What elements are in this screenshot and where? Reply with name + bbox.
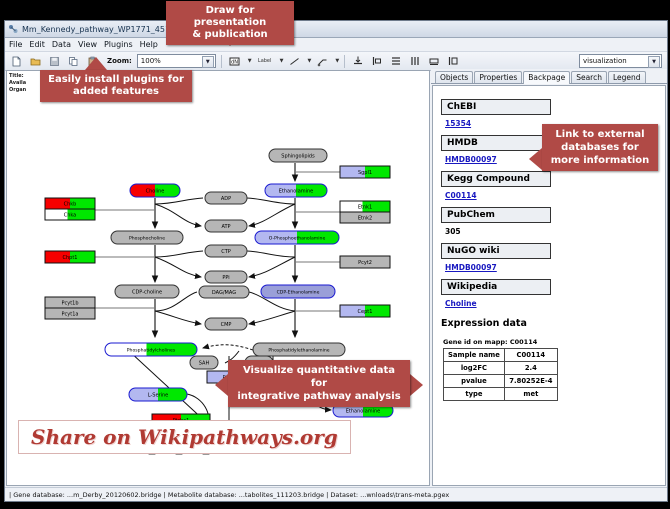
node-label: Pcyt2 [358,260,372,266]
callout-visualize-line2: integrative pathway analysis [237,391,400,402]
node-label: PPi [222,275,229,281]
expression-row: Sample nameC00114 [444,349,558,362]
node-label: ADP [221,196,231,202]
expression-row: typemet [444,388,558,401]
tab-search[interactable]: Search [571,71,607,83]
interaction-icon[interactable] [314,53,330,69]
callout-plugins-line2: added features [73,86,159,97]
align-top-icon[interactable] [350,53,366,69]
db-header-kegg-compound: Kegg Compound [441,171,551,187]
new-file-icon[interactable] [8,53,24,69]
metabolite-node[interactable]: Phosphatidylcholines [105,343,197,356]
chevron-down-icon[interactable]: ▼ [308,58,312,64]
expression-row-value: 7.80252E-4 [504,375,557,388]
expression-row-value: met [504,388,557,401]
metabolite-node[interactable]: CMP [205,318,247,330]
gene-id-label: Gene id on mapp: C00114 [443,338,657,346]
node-label: Ethanolamine [279,189,314,195]
node-label: Pcyt1b [61,301,78,307]
node-label: CDP-choline [132,290,162,296]
distribute-horizontal-icon[interactable] [407,53,423,69]
db-header-pubchem: PubChem [441,207,551,223]
node-label: O-Phosphoethanolamine [269,236,326,242]
tab-backpage[interactable]: Backpage [523,71,570,84]
node-label: CDP-Ethanolamine [277,290,320,296]
share-banner: Share on Wikipathways.org [18,420,351,454]
callout-visualize-line1: Visualize quantitative data for [243,365,395,389]
node-label: Chkb [64,202,77,208]
copy-icon[interactable] [65,53,81,69]
node-label: Choline [146,189,165,195]
metabolite-node[interactable]: Choline [130,184,180,197]
callout-link-line3: more information [551,155,650,166]
chevron-down-icon[interactable]: ▼ [280,58,284,64]
node-label: Phosphocholine [129,236,165,242]
expression-row-label: type [444,388,505,401]
metabolite-node[interactable]: Ethanolamine [265,184,327,197]
node-label: Pcyt1a [62,312,79,318]
expression-row-value: C00114 [504,349,557,362]
open-folder-icon[interactable] [27,53,43,69]
zoom-label: Zoom: [107,57,132,65]
visualization-combo[interactable]: visualization ▼ [579,54,662,68]
node-label: DAG/MAG [212,290,236,296]
menu-view[interactable]: View [78,40,97,49]
callout-link-arrow-icon [529,148,542,170]
node-label: Ethanolamine [346,409,381,415]
line-icon[interactable] [287,53,303,69]
callout-draw-line2: & publication [192,29,267,40]
node-label: Sgpl1 [358,170,372,176]
node-label: Chka [64,213,77,219]
common-width-icon[interactable] [426,53,442,69]
metabolite-node[interactable]: O-Phosphoethanolamine [255,231,339,244]
toolbar-separator [221,55,222,68]
db-header-wikipedia: Wikipedia [441,279,551,295]
expression-row: log2FC2.4 [444,362,558,375]
db-header-nugo-wiki: NuGO wiki [441,243,551,259]
align-left-icon[interactable] [369,53,385,69]
status-bar: | Gene database: ...m_Derby_20120602.bri… [5,487,667,501]
datanode-icon[interactable]: dN [227,53,243,69]
svg-text:dN: dN [231,59,238,65]
callout-link-line2: databases for [561,142,639,153]
title-bar: Mm_Kennedy_pathway_WP1771_45176.gpml [5,21,667,38]
callout-plugins-arrow-icon [85,57,107,70]
pathway-cofactor-edges [155,198,295,324]
metabolite-node[interactable]: CDP-Ethanolamine [261,285,335,298]
pathvisio-app-icon [8,24,18,34]
db-header-chebi: ChEBI [441,99,551,115]
node-label: L-Serine [148,393,168,399]
expression-row-label: Sample name [444,349,505,362]
callout-plugins: Easily install plugins for added feature… [40,70,192,102]
zoom-value: 100% [141,57,161,65]
node-label: Sphingolipids [281,154,315,160]
metabolite-node[interactable]: Sphingolipids [269,149,327,162]
toolbar-separator [344,55,345,68]
node-label: SAH [199,361,210,367]
menu-edit[interactable]: Edit [29,40,45,49]
pathway-nodes[interactable]: SphingolipidsEthanolamineO-Phosphoethano… [45,149,393,454]
node-label: Etnk2 [358,216,372,222]
node-label: Cept1 [358,309,373,315]
callout-plugins-line1: Easily install plugins for [48,74,184,85]
gene-node[interactable]: Sgpl1 [340,166,390,178]
visualization-value: visualization [583,57,627,65]
callout-draw: Draw for presentation & publication [166,1,294,45]
metabolite-node[interactable]: ATP [205,220,247,232]
callout-link: Link to external databases for more info… [542,124,658,171]
status-text: | Gene database: ...m_Derby_20120602.bri… [9,491,449,499]
node-label: CMP [221,322,232,328]
db-link-kegg-compound[interactable]: C00114 [445,191,657,200]
db-value-pubchem: 305 [445,227,657,236]
db-link-wikipedia[interactable]: Choline [445,299,657,308]
gene-node[interactable]: ChkbChka [45,198,95,220]
node-label: Phosphatidylcholines [127,348,176,354]
screenshot-root: Mm_Kennedy_pathway_WP1771_45176.gpml Fil… [0,0,670,509]
callout-draw-line1: Draw for presentation [194,5,266,28]
gene-node[interactable]: Pcyt2 [340,256,390,268]
zoom-combo[interactable]: 100% ▼ [137,54,216,68]
expression-row-label: pvalue [444,375,505,388]
expression-row-value: 2.4 [504,362,557,375]
menu-data[interactable]: Data [52,40,71,49]
expression-row: pvalue7.80252E-4 [444,375,558,388]
gene-node[interactable]: Etnk1Etnk2 [340,201,390,223]
node-label: Phosphatidylethanolamine [268,348,329,354]
tab-properties[interactable]: Properties [474,71,522,83]
metabolite-node[interactable]: ADP [205,192,247,204]
menu-file[interactable]: File [9,40,22,49]
node-label: ATP [221,224,230,230]
tab-objects[interactable]: Objects [435,71,473,83]
gene-node[interactable]: Chpt1 [45,251,95,263]
node-label: Etnk1 [358,205,372,211]
metabolite-node[interactable]: CTP [205,245,247,257]
metabolite-node[interactable]: Phosphocholine [111,231,183,244]
expression-row-label: log2FC [444,362,505,375]
metabolite-node[interactable]: DAG/MAG [199,286,249,298]
menu-help[interactable]: Help [140,40,158,49]
metabolite-node[interactable]: Phosphatidylethanolamine [253,343,345,356]
node-label: CTP [221,249,231,255]
label-icon[interactable]: Label [255,53,275,69]
side-panel-tabs[interactable]: ObjectsPropertiesBackpageSearchLegend [431,69,667,84]
gene-node[interactable]: Cept1 [340,305,390,317]
menu-plugins[interactable]: Plugins [104,40,133,49]
callout-visualize: Visualize quantitative data for integrat… [228,360,410,407]
chevron-down-icon[interactable]: ▼ [248,58,252,64]
callout-link-line1: Link to external [555,129,644,140]
tab-legend[interactable]: Legend [608,71,646,83]
expression-data-heading: Expression data [441,318,657,329]
db-link-nugo-wiki[interactable]: HMDB00097 [445,263,657,272]
metabolite-node[interactable]: PPi [205,271,247,283]
chevron-down-icon[interactable]: ▼ [202,56,214,68]
node-label: Chpt1 [63,255,78,261]
metabolite-node[interactable]: L-Serine [129,388,187,401]
callout-visualize-arrow-left-icon [215,374,228,396]
gene-node[interactable]: Pcyt1bPcyt1a [45,297,95,319]
metabolite-node[interactable]: SAH [190,356,218,369]
metabolite-node[interactable]: CDP-choline [115,285,179,298]
common-height-icon[interactable] [445,53,461,69]
chevron-down-icon[interactable]: ▼ [335,58,339,64]
callout-visualize-arrow-right-icon [410,374,423,396]
distribute-vertical-icon[interactable] [388,53,404,69]
share-banner-text: Share on Wikipathways.org [31,425,338,449]
chevron-down-icon[interactable]: ▼ [648,56,660,68]
expression-table: Sample nameC00114log2FC2.4pvalue7.80252E… [443,348,558,401]
menu-bar: File Edit Data View Plugins Help [5,38,667,52]
save-icon[interactable] [46,53,62,69]
